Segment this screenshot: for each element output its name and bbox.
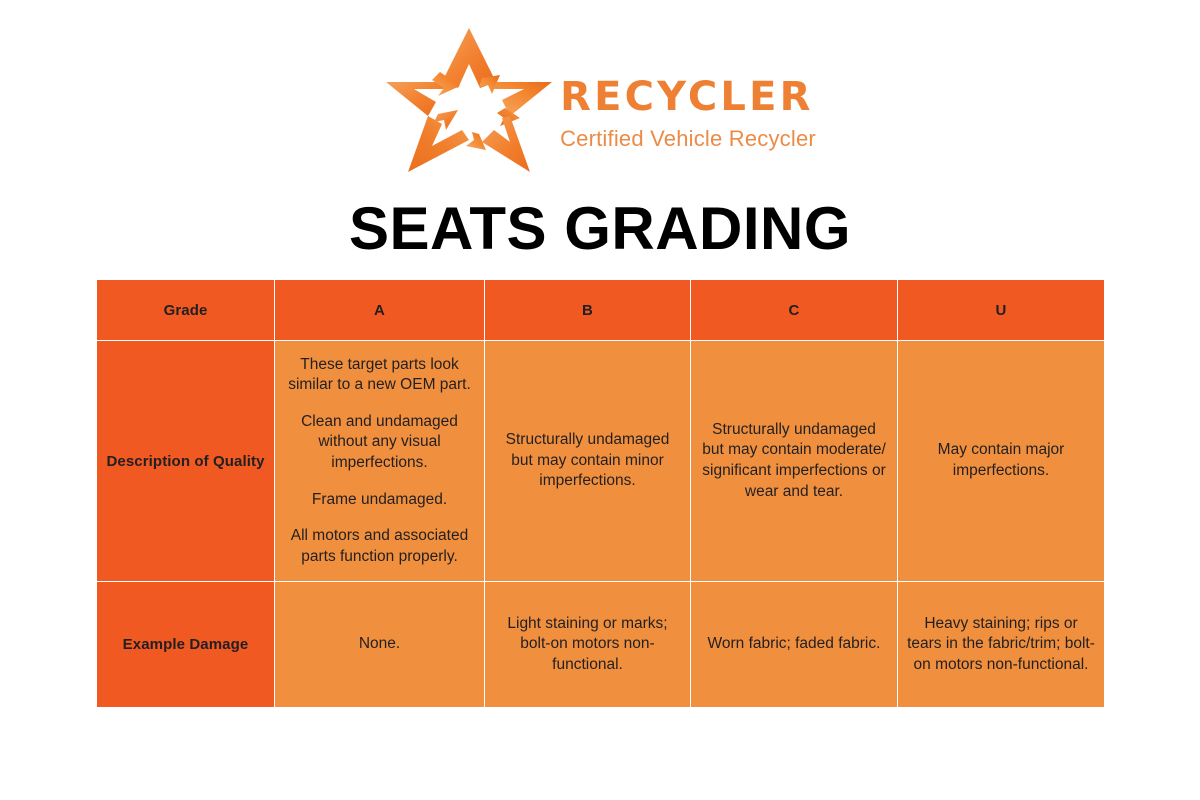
header-grade-b: B <box>485 280 691 341</box>
cell-description-b-para-1: Structurally undamaged but may contain m… <box>494 430 681 492</box>
cell-description-b: Structurally undamaged but may contain m… <box>485 341 691 582</box>
cell-damage-b: Light staining or marks; bolt-on motors … <box>485 582 691 708</box>
table-header: Grade A B C U <box>97 280 1105 341</box>
cell-description-u: May contain major imperfections. <box>898 341 1105 582</box>
logo-tagline: Certified Vehicle Recycler <box>560 128 816 150</box>
header-grade: Grade <box>97 280 275 341</box>
cell-damage-c: Worn fabric; faded fabric. <box>691 582 898 708</box>
cell-description-a-para-1: These target parts look similar to a new… <box>284 355 475 396</box>
header-grade-u: U <box>898 280 1105 341</box>
recycle-star-icon <box>384 26 554 174</box>
row-label-description-of-quality: Description of Quality <box>97 341 275 582</box>
cell-damage-a: None. <box>275 582 485 708</box>
table-body: Description of Quality These target part… <box>97 341 1105 708</box>
cell-description-a: These target parts look similar to a new… <box>275 341 485 582</box>
logo-wordmark: RECYCLER <box>560 77 814 117</box>
cell-damage-u: Heavy staining; rips or tears in the fab… <box>898 582 1105 708</box>
grading-chart-page: RECYCLER Certified Vehicle Recycler SEAT… <box>0 0 1200 800</box>
seats-grading-table: Grade A B C U Description of Quality The… <box>96 279 1105 708</box>
header-grade-a: A <box>275 280 485 341</box>
cell-description-c: Structurally undamaged but may contain m… <box>691 341 898 582</box>
cell-description-a-para-4: All motors and associated parts function… <box>284 526 475 567</box>
cell-description-u-para-1: May contain major imperfections. <box>907 440 1095 481</box>
cell-damage-c-para-1: Worn fabric; faded fabric. <box>700 634 888 655</box>
cell-description-c-para-1: Structurally undamaged but may contain m… <box>700 420 888 502</box>
cell-damage-a-para-1: None. <box>284 634 475 655</box>
table-header-row: Grade A B C U <box>97 280 1105 341</box>
logo-text-block: RECYCLER Certified Vehicle Recycler <box>560 51 816 150</box>
cell-description-a-para-3: Frame undamaged. <box>284 490 475 511</box>
cell-description-a-para-2: Clean and undamaged without any visual i… <box>284 412 475 474</box>
cell-damage-b-para-1: Light staining or marks; bolt-on motors … <box>494 614 681 676</box>
logo-inner: RECYCLER Certified Vehicle Recycler <box>384 26 816 174</box>
table-row-description-of-quality: Description of Quality These target part… <box>97 341 1105 582</box>
table-row-example-damage: Example Damage None. Light staining or m… <box>97 582 1105 708</box>
cell-damage-u-para-1: Heavy staining; rips or tears in the fab… <box>907 614 1095 676</box>
brand-logo: RECYCLER Certified Vehicle Recycler <box>0 26 1200 174</box>
page-title: SEATS GRADING <box>0 197 1200 260</box>
header-grade-c: C <box>691 280 898 341</box>
row-label-example-damage: Example Damage <box>97 582 275 708</box>
